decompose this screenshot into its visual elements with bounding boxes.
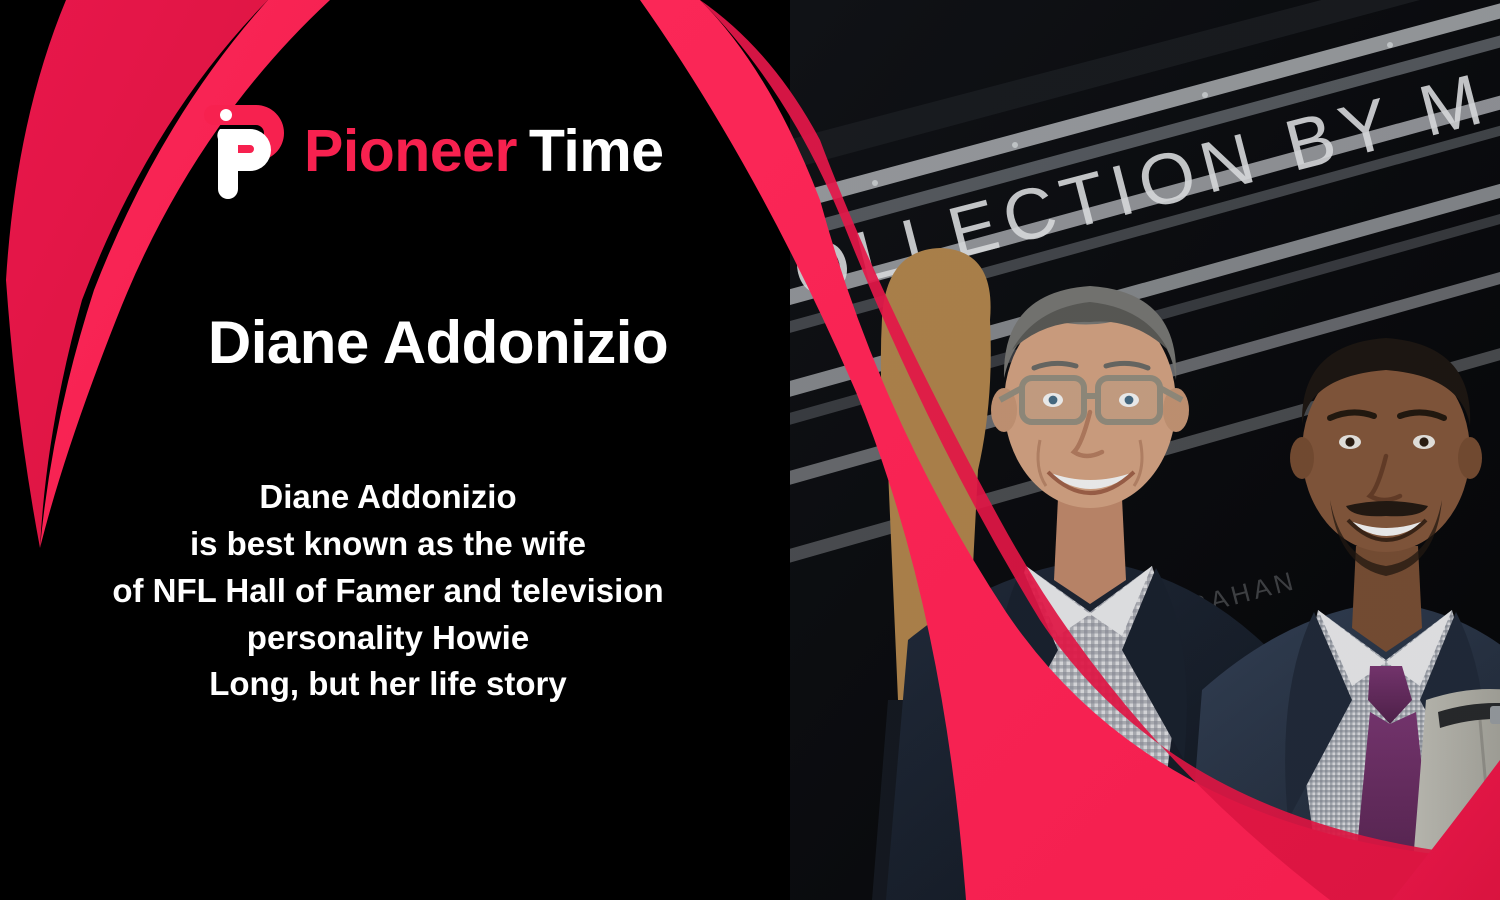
brand-name-primary: Pioneer <box>304 118 517 184</box>
brand-name-secondary: Time <box>529 118 664 184</box>
page-title: Diane Addonizio <box>0 311 856 376</box>
body-line: Long, but her life story <box>0 661 776 708</box>
left-crescent-dark <box>6 0 268 548</box>
body-paragraph: Diane Addonizio is best known as the wif… <box>0 474 776 708</box>
left-crescent-bright <box>40 0 330 548</box>
body-line: of NFL Hall of Famer and television <box>0 568 776 615</box>
pioneer-p-monogram-icon <box>202 97 294 205</box>
event-photo: COLLECTION BY M STRAHAN <box>790 0 1500 900</box>
brand-logo[interactable]: PioneerTime <box>202 97 664 205</box>
body-line: personality Howie <box>0 615 776 662</box>
event-photo-illustration: COLLECTION BY M STRAHAN <box>790 0 1500 900</box>
body-line: is best known as the wife <box>0 521 776 568</box>
social-media-card: COLLECTION BY M STRAHAN <box>0 0 1500 900</box>
body-line: Diane Addonizio <box>0 474 776 521</box>
brand-wordmark: PioneerTime <box>304 122 664 181</box>
